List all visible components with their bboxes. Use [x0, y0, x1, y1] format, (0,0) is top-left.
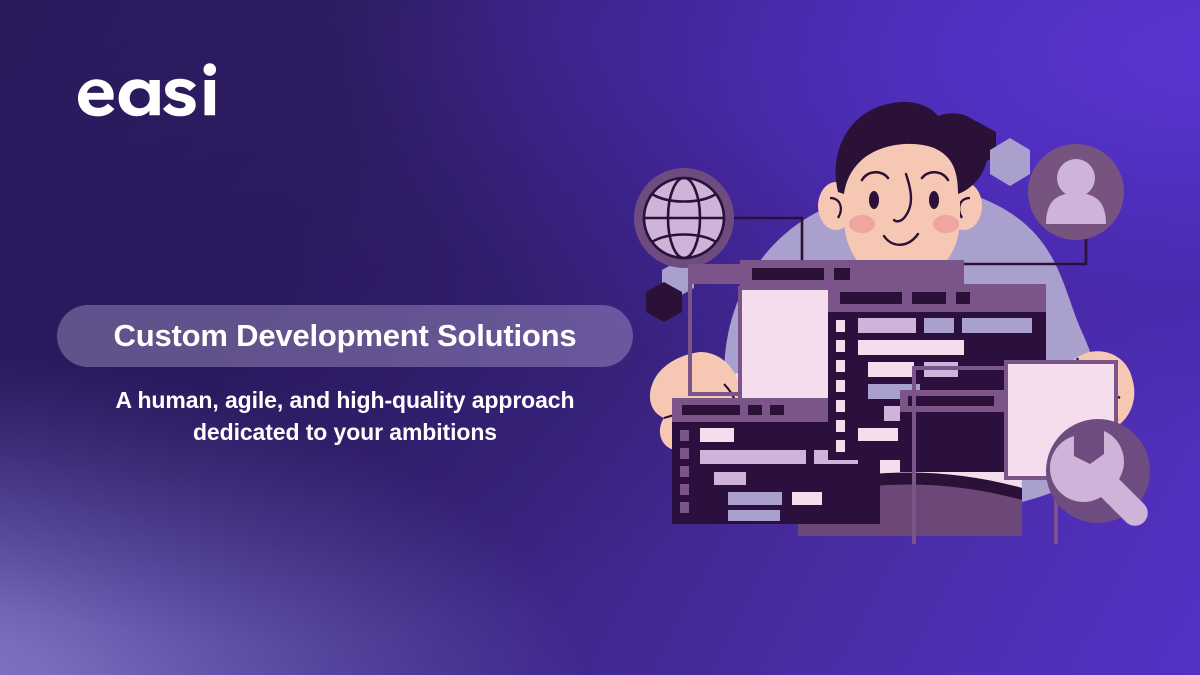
headline-pill: Custom Development Solutions — [57, 305, 633, 367]
subtitle-line-1: A human, agile, and high-quality approac… — [116, 387, 575, 413]
subtitle: A human, agile, and high-quality approac… — [57, 385, 633, 448]
page-title: Custom Development Solutions — [114, 318, 577, 354]
eye-left — [869, 191, 879, 209]
wrench-icon[interactable] — [1046, 419, 1150, 526]
easi-logo[interactable] — [68, 62, 268, 124]
globe-icon[interactable] — [634, 168, 734, 268]
marketing-banner: Custom Development Solutions A human, ag… — [0, 0, 1200, 675]
user-icon[interactable] — [1028, 144, 1124, 240]
subtitle-line-2: dedicated to your ambitions — [193, 419, 497, 445]
hero-illustration — [612, 96, 1172, 544]
hero-illustration-svg — [612, 96, 1172, 544]
eye-right — [929, 191, 939, 209]
easi-logo-mark — [68, 62, 268, 124]
